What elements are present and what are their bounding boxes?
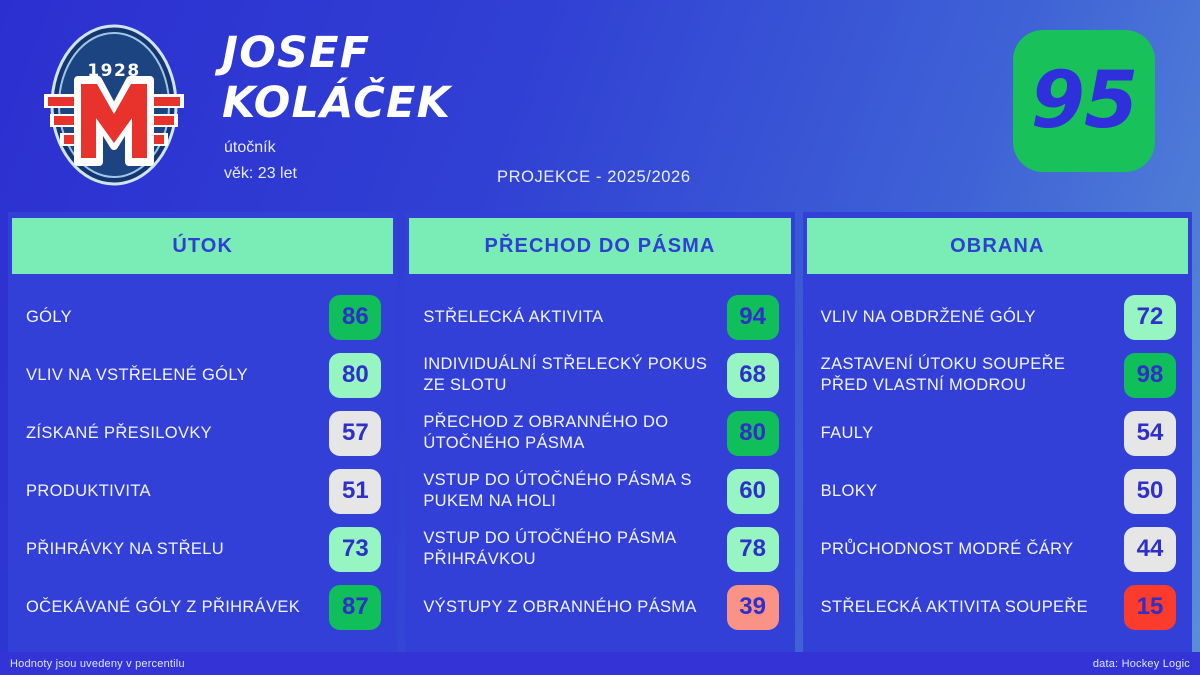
stat-row: OČEKÁVANÉ GÓLY Z PŘIHRÁVEK87 [26,585,381,630]
stat-value: 44 [1137,535,1164,563]
stat-label: ZÍSKANÉ PŘESILOVKY [26,423,319,444]
stat-value-badge: 50 [1124,469,1176,514]
column-title: OBRANA [942,235,1052,258]
stat-value-badge: 78 [727,527,779,572]
stat-value: 39 [739,593,766,621]
stat-column-utok: ÚTOKGÓLY86VLIV NA VSTŘELENÉ GÓLY80ZÍSKAN… [8,212,397,652]
footer: Hodnoty jsou uvedeny v percentilu data: … [0,652,1200,675]
club-logo: 1928 [36,22,192,188]
stat-label: BLOKY [821,481,1114,502]
stat-value: 72 [1137,303,1164,331]
stat-value-badge: 68 [727,353,779,398]
stat-label: PŘIHRÁVKY NA STŘELU [26,539,319,560]
column-title: ÚTOK [164,235,241,258]
stat-row: VÝSTUPY Z OBRANNÉHO PÁSMA39 [423,585,778,630]
stat-value-badge: 51 [329,469,381,514]
column-header: ÚTOK [12,218,393,274]
stat-label: VSTUP DO ÚTOČNÉHO PÁSMA S PUKEM NA HOLI [423,470,716,512]
stat-value: 51 [342,477,369,505]
stat-label: ZASTAVENÍ ÚTOKU SOUPEŘE PŘED VLASTNÍ MOD… [821,354,1114,396]
player-position: útočník [224,135,297,161]
stat-value-badge: 80 [727,411,779,456]
stat-value: 98 [1137,361,1164,389]
stat-column-prechod-do-pasma: PŘECHOD DO PÁSMASTŘELECKÁ AKTIVITA94INDI… [405,212,794,652]
footer-source: data: Hockey Logic [1093,658,1190,670]
stat-row: STŘELECKÁ AKTIVITA SOUPEŘE15 [821,585,1176,630]
header: 1928 [0,0,1200,208]
stat-row: PRŮCHODNOST MODRÉ ČÁRY44 [821,527,1176,572]
stat-value: 86 [342,303,369,331]
overall-rating-value: 95 [1031,62,1138,140]
stat-row: ZASTAVENÍ ÚTOKU SOUPEŘE PŘED VLASTNÍ MOD… [821,353,1176,398]
stat-label: STŘELECKÁ AKTIVITA [423,307,716,328]
stat-value: 50 [1137,477,1164,505]
stat-value: 15 [1137,593,1164,621]
stat-row-list: VLIV NA OBDRŽENÉ GÓLY72ZASTAVENÍ ÚTOKU S… [803,274,1192,652]
stat-label: VLIV NA OBDRŽENÉ GÓLY [821,307,1114,328]
stat-label: PRODUKTIVITA [26,481,319,502]
stat-value: 60 [739,477,766,505]
overall-rating-badge: 95 [1013,30,1155,172]
stat-value-badge: 15 [1124,585,1176,630]
stat-value-badge: 80 [329,353,381,398]
stat-label: VÝSTUPY Z OBRANNÉHO PÁSMA [423,597,716,618]
stat-value-badge: 72 [1124,295,1176,340]
stat-value-badge: 86 [329,295,381,340]
stat-label: VSTUP DO ÚTOČNÉHO PÁSMA PŘIHRÁVKOU [423,528,716,570]
infographic-root: 1928 [0,0,1200,675]
stat-value-badge: 44 [1124,527,1176,572]
stat-value: 73 [342,535,369,563]
stat-label: FAULY [821,423,1114,444]
stat-label: VLIV NA VSTŘELENÉ GÓLY [26,365,319,386]
stat-value: 57 [342,419,369,447]
footer-note: Hodnoty jsou uvedeny v percentilu [10,658,185,670]
stat-row: VSTUP DO ÚTOČNÉHO PÁSMA PŘIHRÁVKOU78 [423,527,778,572]
player-age: věk: 23 let [224,161,297,187]
stat-value: 68 [739,361,766,389]
stat-value: 78 [739,535,766,563]
stat-row: PŘECHOD Z OBRANNÉHO DO ÚTOČNÉHO PÁSMA80 [423,411,778,456]
stat-label: GÓLY [26,307,319,328]
stat-value-badge: 54 [1124,411,1176,456]
stat-row: VLIV NA VSTŘELENÉ GÓLY80 [26,353,381,398]
stat-value-badge: 73 [329,527,381,572]
stat-row: BLOKY50 [821,469,1176,514]
stat-value-badge: 60 [727,469,779,514]
stat-value: 54 [1137,419,1164,447]
stat-row: INDIVIDUÁLNÍ STŘELECKÝ POKUS ZE SLOTU68 [423,353,778,398]
stat-row: PŘIHRÁVKY NA STŘELU73 [26,527,381,572]
player-name: JOSEF KOLÁČEK [222,28,782,128]
stat-row: FAULY54 [821,411,1176,456]
stat-value-badge: 98 [1124,353,1176,398]
stat-value: 94 [739,303,766,331]
stat-value-badge: 57 [329,411,381,456]
stat-label: PŘECHOD Z OBRANNÉHO DO ÚTOČNÉHO PÁSMA [423,412,716,454]
stat-label: OČEKÁVANÉ GÓLY Z PŘIHRÁVEK [26,597,319,618]
stat-columns: ÚTOKGÓLY86VLIV NA VSTŘELENÉ GÓLY80ZÍSKAN… [0,212,1200,652]
projection-label: PROJEKCE - 2025/2026 [497,168,691,187]
stat-value-badge: 87 [329,585,381,630]
stat-value-badge: 39 [727,585,779,630]
stat-row: ZÍSKANÉ PŘESILOVKY57 [26,411,381,456]
stat-value: 87 [342,593,369,621]
stat-column-obrana: OBRANAVLIV NA OBDRŽENÉ GÓLY72ZASTAVENÍ Ú… [803,212,1192,652]
player-first-name: JOSEF [222,28,782,78]
stat-row: PRODUKTIVITA51 [26,469,381,514]
column-header: OBRANA [807,218,1188,274]
column-title: PŘECHOD DO PÁSMA [477,235,724,258]
column-header: PŘECHOD DO PÁSMA [409,218,790,274]
stat-row: VSTUP DO ÚTOČNÉHO PÁSMA S PUKEM NA HOLI6… [423,469,778,514]
stat-value: 80 [342,361,369,389]
stat-label: PRŮCHODNOST MODRÉ ČÁRY [821,539,1114,560]
stat-row-list: GÓLY86VLIV NA VSTŘELENÉ GÓLY80ZÍSKANÉ PŘ… [8,274,397,652]
stat-row-list: STŘELECKÁ AKTIVITA94INDIVIDUÁLNÍ STŘELEC… [405,274,794,652]
player-last-name: KOLÁČEK [222,78,782,128]
stat-row: VLIV NA OBDRŽENÉ GÓLY72 [821,295,1176,340]
stat-label: STŘELECKÁ AKTIVITA SOUPEŘE [821,597,1114,618]
player-meta: útočník věk: 23 let [224,135,297,187]
stat-row: GÓLY86 [26,295,381,340]
stat-value: 80 [739,419,766,447]
stat-value-badge: 94 [727,295,779,340]
stat-label: INDIVIDUÁLNÍ STŘELECKÝ POKUS ZE SLOTU [423,354,716,396]
stat-row: STŘELECKÁ AKTIVITA94 [423,295,778,340]
